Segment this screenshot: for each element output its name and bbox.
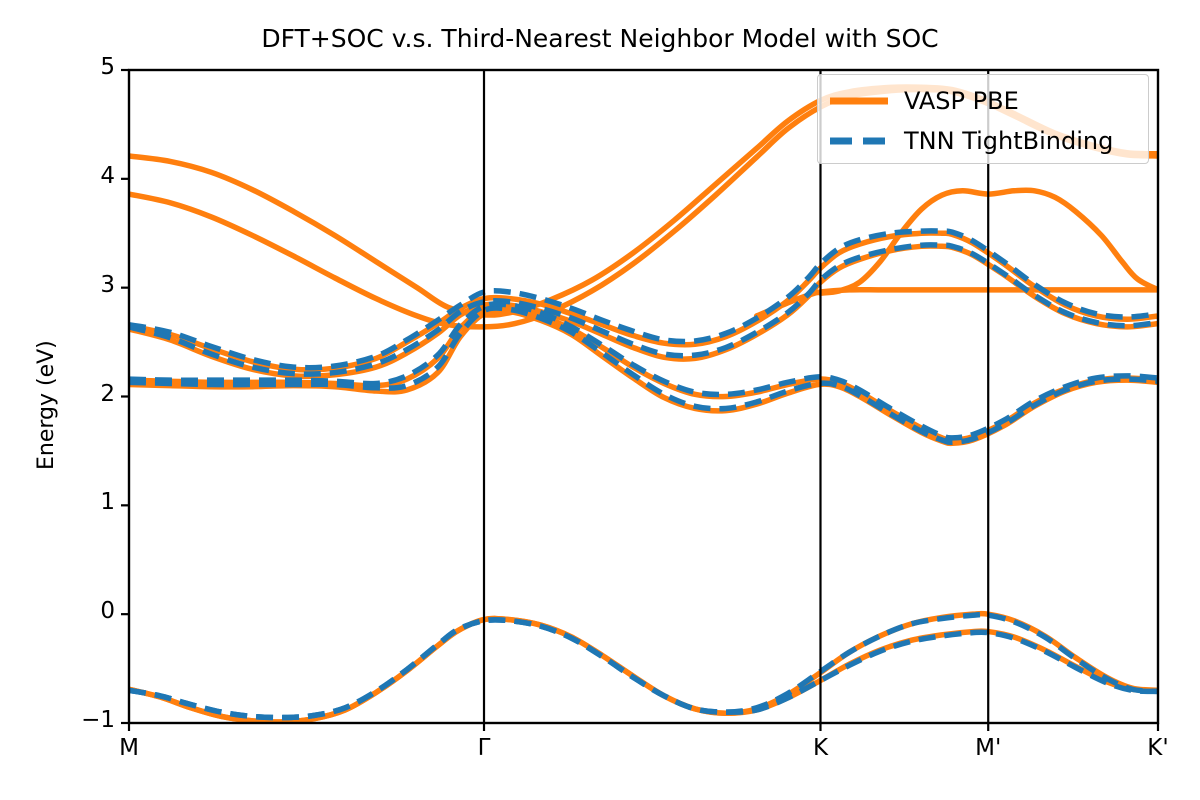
x-tick-label-1: Γ	[444, 735, 524, 761]
y-tick-label-2: 3	[100, 272, 115, 298]
band-curves-layer	[129, 87, 1158, 722]
y-tick-label-4: 1	[100, 489, 115, 515]
x-tick-label-2: K	[780, 735, 860, 761]
band-curve-vasp-0	[129, 614, 1158, 722]
band-structure-figure: DFT+SOC v.s. Third-Nearest Neighbor Mode…	[0, 0, 1200, 800]
y-tick-label-6: −1	[81, 707, 115, 733]
band-curve-tnn-0	[129, 615, 1158, 718]
legend-swatch-tnn-icon	[828, 128, 890, 154]
legend-item-vasp[interactable]: VASP PBE	[828, 81, 1138, 121]
y-tick-label-5: 0	[100, 598, 115, 624]
band-curve-tnn-1	[129, 620, 1158, 718]
y-tick-label-0: 5	[100, 54, 115, 80]
legend[interactable]: VASP PBE TNN TightBinding	[817, 74, 1149, 164]
x-tick-label-3: M'	[948, 735, 1028, 761]
legend-item-tnn[interactable]: TNN TightBinding	[828, 121, 1138, 161]
axes-frame	[129, 70, 1158, 723]
legend-label-tnn: TNN TightBinding	[904, 127, 1113, 155]
x-tick-label-0: M	[89, 735, 169, 761]
y-tick-label-1: 4	[100, 163, 115, 189]
legend-label-vasp: VASP PBE	[904, 87, 1019, 115]
band-curve-vasp-9	[757, 290, 1158, 316]
x-tick-label-4: K'	[1118, 735, 1198, 761]
y-tick-label-3: 2	[100, 381, 115, 407]
legend-swatch-vasp-icon	[828, 88, 890, 114]
